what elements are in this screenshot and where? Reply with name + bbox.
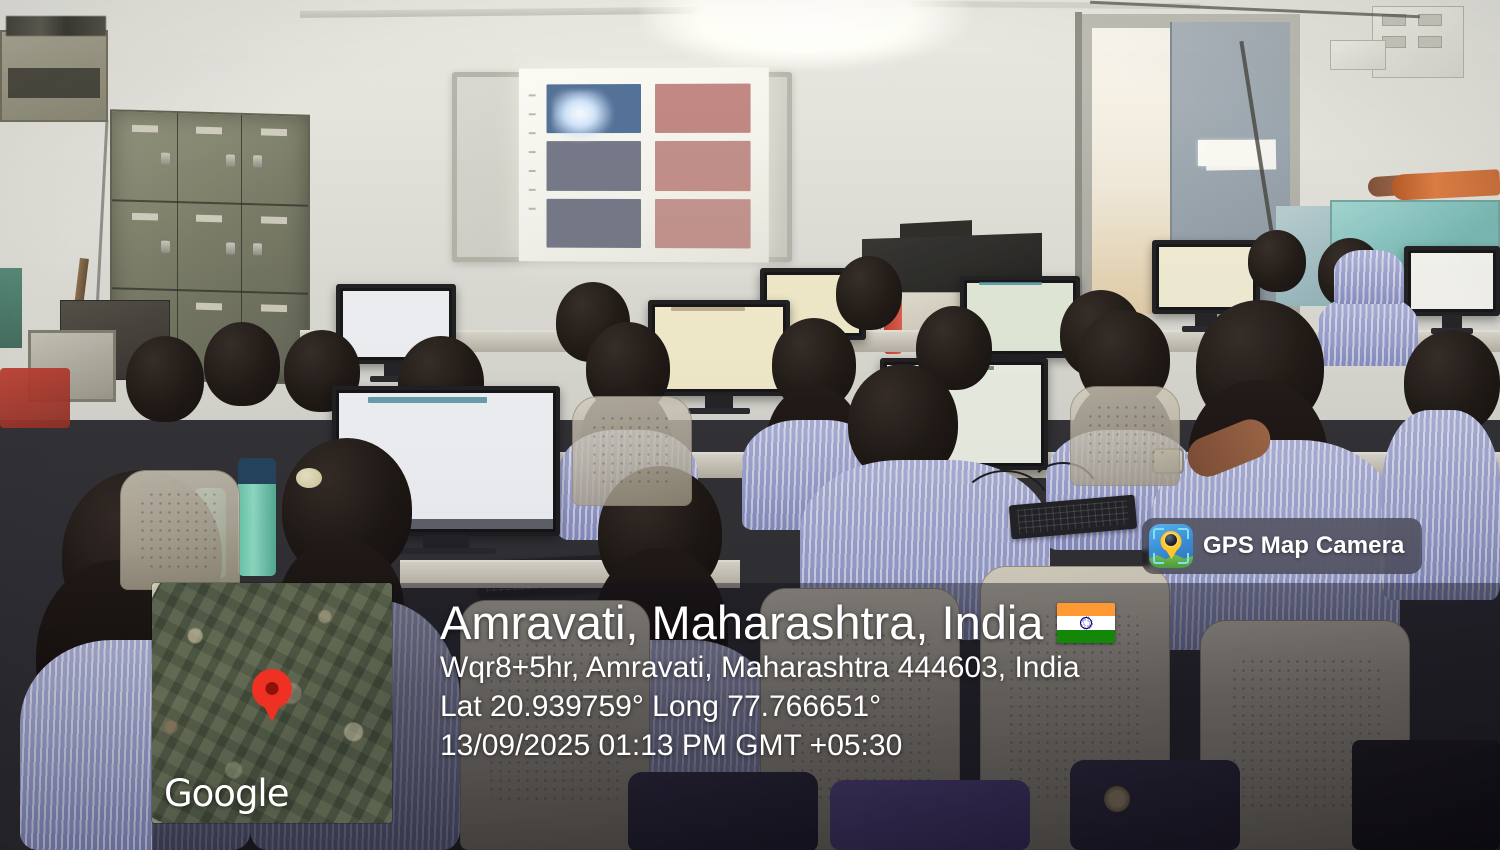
location-address: Wqr8+5hr, Amravati, Maharashtra 444603, … [440, 648, 1486, 687]
shelf-equipment [6, 16, 106, 36]
door-jamb [1075, 12, 1082, 312]
location-coordinates: Lat 20.939759° Long 77.766651° [440, 687, 1486, 726]
student-head [836, 256, 902, 330]
monitor-back-right-screen [1159, 247, 1253, 307]
icon-bracket-bottom-right [1178, 553, 1189, 564]
monitor-far-right[interactable] [1404, 246, 1500, 316]
gps-map-camera-label: GPS Map Camera [1203, 532, 1404, 560]
plastic-chair[interactable] [1070, 386, 1180, 486]
icon-bracket-bottom-left [1153, 553, 1164, 564]
projector-hotspot [552, 90, 614, 142]
icon-bracket-top-left [1153, 528, 1164, 539]
monitor-center-screen [655, 307, 783, 389]
monitor-center-header [671, 307, 745, 311]
panel-switch-4 [1418, 36, 1442, 48]
slide-tile-4 [655, 141, 751, 191]
wall-shelf-unit [0, 30, 108, 122]
ceiling-light-glare [640, 0, 970, 70]
electrical-panel-secondary [1330, 40, 1386, 70]
shelf-dark-box [8, 68, 100, 98]
monitor-left-front-header [368, 397, 487, 403]
student-head [204, 322, 280, 406]
slide-tile-5 [547, 198, 641, 247]
location-timestamp: 13/09/2025 01:13 PM GMT +05:30 [440, 726, 1486, 765]
gps-map-camera-app-icon [1149, 524, 1193, 568]
icon-bracket-top-right [1178, 528, 1189, 539]
slide-sidebar-ticks [529, 94, 539, 237]
wall-notice [1206, 139, 1277, 170]
panel-switch-2 [1418, 14, 1442, 26]
google-watermark: Google [164, 772, 288, 815]
slide-tile-3 [547, 141, 641, 190]
slide-tile-2 [655, 84, 751, 134]
red-plastic-stool [0, 368, 70, 428]
location-title-row: Amravati, Maharashtra, India [440, 598, 1486, 648]
icon-camera-lens [1165, 534, 1177, 546]
student-head [1248, 230, 1306, 292]
location-title: Amravati, Maharashtra, India [440, 598, 1043, 648]
hair-scrunchie [296, 468, 322, 488]
green-object [0, 268, 22, 348]
water-bottle [238, 458, 276, 576]
slide-tile-6 [655, 199, 751, 249]
plastic-chair[interactable] [572, 396, 692, 506]
student-head [126, 336, 204, 422]
monitor-center[interactable] [648, 300, 790, 396]
monitor-right-1-header [979, 282, 1041, 285]
monitor-far-right-screen [1411, 253, 1493, 309]
student-body [1318, 296, 1418, 366]
map-thumbnail[interactable]: Google [152, 583, 392, 823]
student-body [1334, 250, 1404, 304]
gps-map-camera-photo: GPS Map Camera Google Amravati, Maharash… [0, 0, 1500, 850]
map-location-pin-icon [252, 669, 292, 709]
location-text-block: Amravati, Maharashtra, India Wqr8+5hr, A… [440, 598, 1486, 765]
gps-map-camera-badge[interactable]: GPS Map Camera [1142, 518, 1422, 574]
plastic-chair[interactable] [120, 470, 240, 590]
flag-india-icon [1057, 603, 1115, 643]
projected-slide [519, 67, 769, 262]
